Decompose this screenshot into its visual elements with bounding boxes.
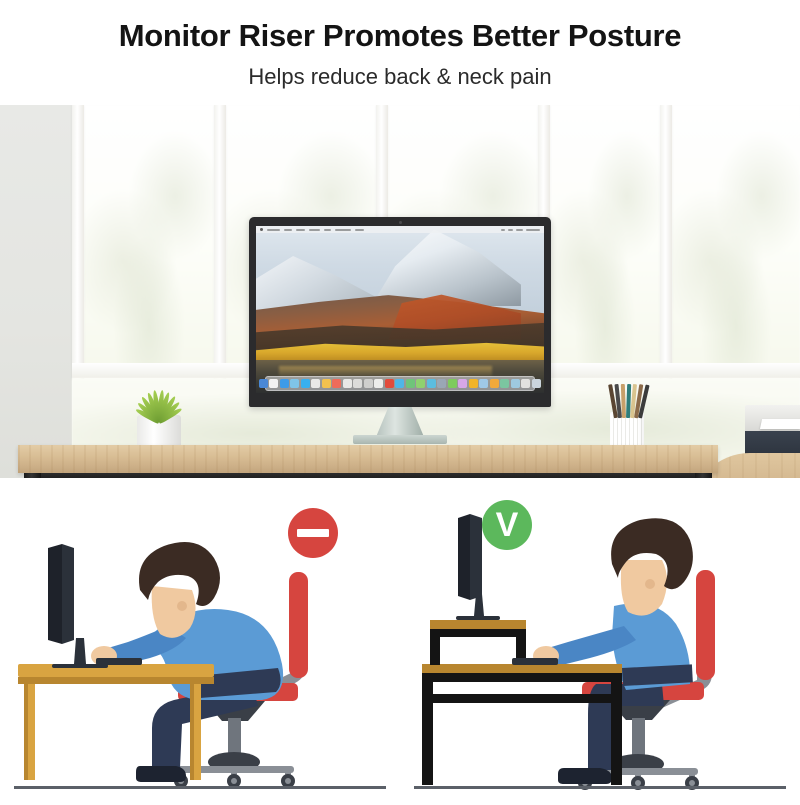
pencil-3 — [621, 384, 626, 418]
dock-app-icon-18[interactable] — [437, 379, 446, 388]
dock-app-icon-10[interactable] — [353, 379, 362, 388]
dock-app-icon-22[interactable] — [479, 379, 488, 388]
menu-item[interactable] — [355, 229, 364, 231]
dock-app-icon-27[interactable] — [532, 379, 541, 388]
dock-app-icon-26[interactable] — [521, 379, 530, 388]
dock-app-icon-8[interactable] — [332, 379, 341, 388]
product-photo — [0, 105, 800, 478]
monitor-panel — [470, 514, 482, 600]
menu-item[interactable] — [267, 229, 280, 231]
check-v-glyph: V — [482, 500, 532, 550]
figure-ear — [177, 601, 187, 611]
monitor-back-edge — [458, 514, 470, 600]
chair-backrest — [696, 570, 715, 680]
figure-head — [621, 560, 667, 616]
window-mullion — [660, 105, 672, 380]
dock-app-icon-23[interactable] — [490, 379, 499, 388]
desk-top-surface — [18, 664, 214, 677]
dock-app-icon-15[interactable] — [406, 379, 415, 388]
window-mullion — [72, 105, 84, 380]
desk-leg-right-shade — [190, 684, 194, 780]
dock-app-icon-3[interactable] — [280, 379, 289, 388]
apple-logo-icon[interactable] — [260, 228, 263, 231]
dock-app-icon-20[interactable] — [458, 379, 467, 388]
room-wall — [0, 105, 72, 478]
floor-line — [14, 786, 386, 789]
chair-caster-hub — [285, 778, 291, 784]
dock-app-icon-9[interactable] — [343, 379, 352, 388]
chair-caster-hub — [231, 778, 237, 784]
dock-app-icon-14[interactable] — [395, 379, 404, 388]
figure-waistband — [622, 664, 693, 686]
figure-ear — [645, 579, 655, 589]
window-pane — [672, 105, 800, 365]
dock-app-icon-21[interactable] — [469, 379, 478, 388]
menu-item[interactable] — [335, 229, 351, 231]
riser-leg-left — [430, 629, 440, 665]
desk-shelf-surface — [422, 664, 622, 673]
desk-frame-leg-left — [422, 673, 433, 785]
battery-icon[interactable] — [516, 229, 523, 231]
dock-app-icon-19[interactable] — [448, 379, 457, 388]
menu-item[interactable] — [296, 229, 305, 231]
window-mullion — [214, 105, 226, 380]
desk-frame-apron — [422, 673, 622, 682]
good-posture-scene: V — [400, 478, 800, 800]
monitor-neck — [74, 638, 86, 664]
macos-menu-bar[interactable] — [256, 226, 544, 233]
posture-comparison: V — [0, 478, 800, 800]
header-banner: Monitor Riser Promotes Better Posture He… — [0, 0, 800, 105]
chair-backrest — [289, 572, 308, 678]
macos-dock[interactable] — [265, 376, 536, 391]
chair-caster-hub — [635, 780, 641, 786]
dock-app-icon-12[interactable] — [374, 379, 383, 388]
dock-app-icon-1[interactable] — [259, 379, 268, 388]
figure-shoe — [136, 766, 186, 782]
check-v-badge: V — [482, 500, 532, 550]
keyboard — [96, 658, 142, 665]
desk-edge — [18, 677, 214, 684]
page-title: Monitor Riser Promotes Better Posture — [119, 18, 682, 54]
monitor-base — [456, 616, 500, 620]
figure-shoe — [558, 768, 612, 784]
desk-frame-rail — [422, 694, 622, 703]
dock-app-icon-7[interactable] — [322, 379, 331, 388]
riser-frame-apron — [430, 629, 526, 637]
menu-bar-status-area[interactable] — [501, 229, 540, 231]
dock-app-icon-24[interactable] — [500, 379, 509, 388]
menu-item[interactable] — [284, 229, 292, 231]
dock-app-icon-11[interactable] — [364, 379, 373, 388]
desk-leg-left-shade — [24, 684, 28, 780]
monitor-screen — [256, 226, 544, 393]
keyboard — [512, 658, 558, 665]
dock-app-icon-2[interactable] — [269, 379, 278, 388]
chair-caster-hub — [689, 780, 695, 786]
monitor-panel — [62, 544, 74, 644]
status-icon[interactable] — [501, 229, 505, 231]
webcam-icon — [399, 221, 402, 224]
wifi-icon[interactable] — [508, 229, 513, 231]
dock-app-icon-6[interactable] — [311, 379, 320, 388]
bad-posture-illustration — [0, 478, 400, 800]
imac-monitor — [249, 217, 551, 407]
menu-item[interactable] — [309, 229, 320, 231]
printer-paper — [760, 419, 800, 429]
monitor-back-edge — [48, 544, 62, 644]
bad-posture-scene — [0, 478, 400, 800]
page-subtitle: Helps reduce back & neck pain — [248, 64, 551, 90]
desk-frame-leg-right — [611, 673, 622, 785]
menu-item[interactable] — [324, 229, 331, 231]
no-entry-badge — [288, 508, 338, 558]
monitor-stand-base — [353, 435, 447, 444]
dock-app-icon-25[interactable] — [511, 379, 520, 388]
dock-app-icon-17[interactable] — [427, 379, 436, 388]
dock-app-icon-13[interactable] — [385, 379, 394, 388]
dock-app-icon-5[interactable] — [301, 379, 310, 388]
riser-shelf-surface — [430, 620, 526, 629]
dock-app-icon-16[interactable] — [416, 379, 425, 388]
clock-label[interactable] — [526, 229, 540, 231]
window-pane — [84, 105, 214, 365]
dock-app-icon-4[interactable] — [290, 379, 299, 388]
good-posture-illustration — [400, 478, 800, 800]
monitor-riser-top — [18, 445, 718, 473]
window-pane — [550, 105, 660, 365]
floor-line — [414, 786, 786, 789]
